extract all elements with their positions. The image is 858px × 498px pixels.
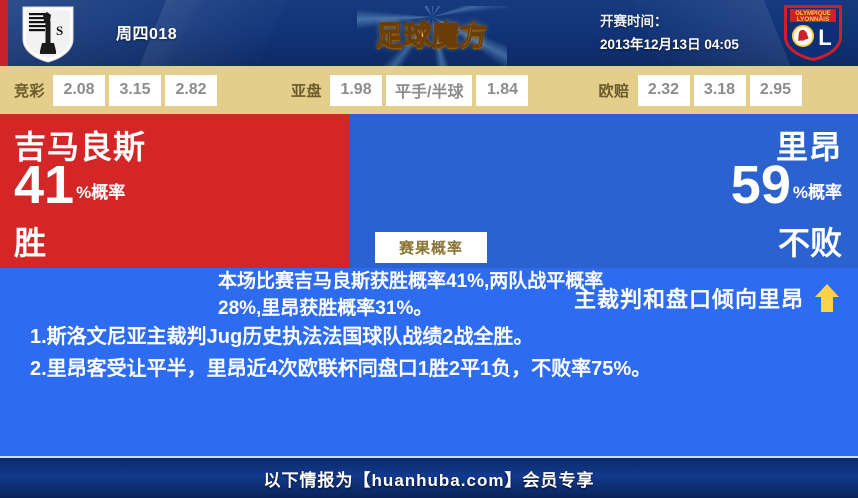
odds-cell-draw[interactable]: 3.18 [694, 75, 746, 106]
odds-group-jingcai: 竞彩 2.08 3.15 2.82 [14, 75, 221, 106]
left-accent-strip [0, 0, 8, 66]
intel-point-2: 2.里昂客受让平半，里昂近4次欧联杯同盘口1胜2平1负，不败率75%。 [30, 354, 842, 386]
intel-point-1: 1.斯洛文尼亚主裁判Jug历史执法法国球队战绩2战全胜。 [30, 322, 842, 354]
site-logo-text: 足球魔方 [352, 14, 512, 53]
arrow-up-icon [814, 283, 840, 313]
odds-cell-away[interactable]: 2.95 [750, 75, 802, 106]
home-percent-number: 41 [14, 160, 74, 211]
match-preview-page: S 周四018 足球魔方 开赛时间： 2013年12月13日 04:05 OLY… [0, 0, 858, 498]
odds-cell-away[interactable]: 1.84 [476, 75, 528, 106]
away-percent-number: 59 [731, 160, 791, 211]
probability-tab-label: 赛果概率 [399, 237, 463, 258]
away-probability-value: 59 %概率 [731, 160, 842, 211]
kickoff-time: 2013年12月13日 04:05 [600, 33, 739, 53]
svg-text:LYONNAIS: LYONNAIS [797, 16, 830, 23]
svg-text:S: S [56, 23, 63, 38]
match-number: 周四018 [116, 20, 177, 44]
home-percent-suffix: %概率 [76, 178, 125, 211]
intel-points: 1.斯洛文尼亚主裁判Jug历史执法法国球队战绩2战全胜。 2.里昂客受让平半，里… [30, 322, 842, 385]
away-result-label: 不败 [778, 218, 842, 264]
home-probability-value: 41 %概率 [14, 160, 125, 211]
probability-section: 吉马良斯 41 %概率 胜 里昂 59 %概率 不败 赛果概率 本场比赛吉马良斯… [0, 114, 858, 268]
footer-bar: 以下情报为【huanhuba.com】会员专享 [0, 456, 858, 498]
odds-group-asian-handicap: 亚盘 1.98 平手/半球 1.84 [291, 75, 532, 106]
odds-cell-home[interactable]: 1.98 [330, 75, 382, 106]
odds-cell-away[interactable]: 2.82 [165, 75, 217, 106]
probability-description: 本场比赛吉马良斯获胜概率41%,两队战平概率28%,里昂获胜概率31%。 [218, 269, 618, 323]
away-percent-suffix: %概率 [793, 178, 842, 211]
odds-group-european: 欧赔 2.32 3.18 2.95 [598, 75, 805, 106]
kickoff-label: 开赛时间： [600, 10, 668, 30]
home-probability-panel: 吉马良斯 41 %概率 胜 [0, 114, 350, 268]
svg-text:L: L [818, 25, 831, 50]
header-bar: S 周四018 足球魔方 开赛时间： 2013年12月13日 04:05 OLY… [0, 0, 858, 66]
home-team-crest-icon: S [20, 5, 76, 63]
odds-group-label: 欧赔 [598, 80, 629, 101]
odds-bar: 竞彩 2.08 3.15 2.82 亚盘 1.98 平手/半球 1.84 欧赔 … [0, 66, 858, 114]
away-team-crest-icon: OLYMPIQUE LYONNAIS L [782, 3, 844, 63]
odds-cell-home[interactable]: 2.08 [53, 75, 105, 106]
odds-cell-handicap-line[interactable]: 平手/半球 [386, 75, 472, 106]
odds-group-label: 亚盘 [291, 80, 322, 101]
home-result-label: 胜 [14, 218, 46, 264]
site-logo[interactable]: 足球魔方 [352, 0, 512, 66]
odds-cell-draw[interactable]: 3.15 [109, 75, 161, 106]
odds-cell-home[interactable]: 2.32 [638, 75, 690, 106]
footer-text: 以下情报为【huanhuba.com】会员专享 [264, 466, 595, 491]
probability-tab[interactable]: 赛果概率 [375, 232, 487, 263]
odds-group-label: 竞彩 [14, 80, 45, 101]
